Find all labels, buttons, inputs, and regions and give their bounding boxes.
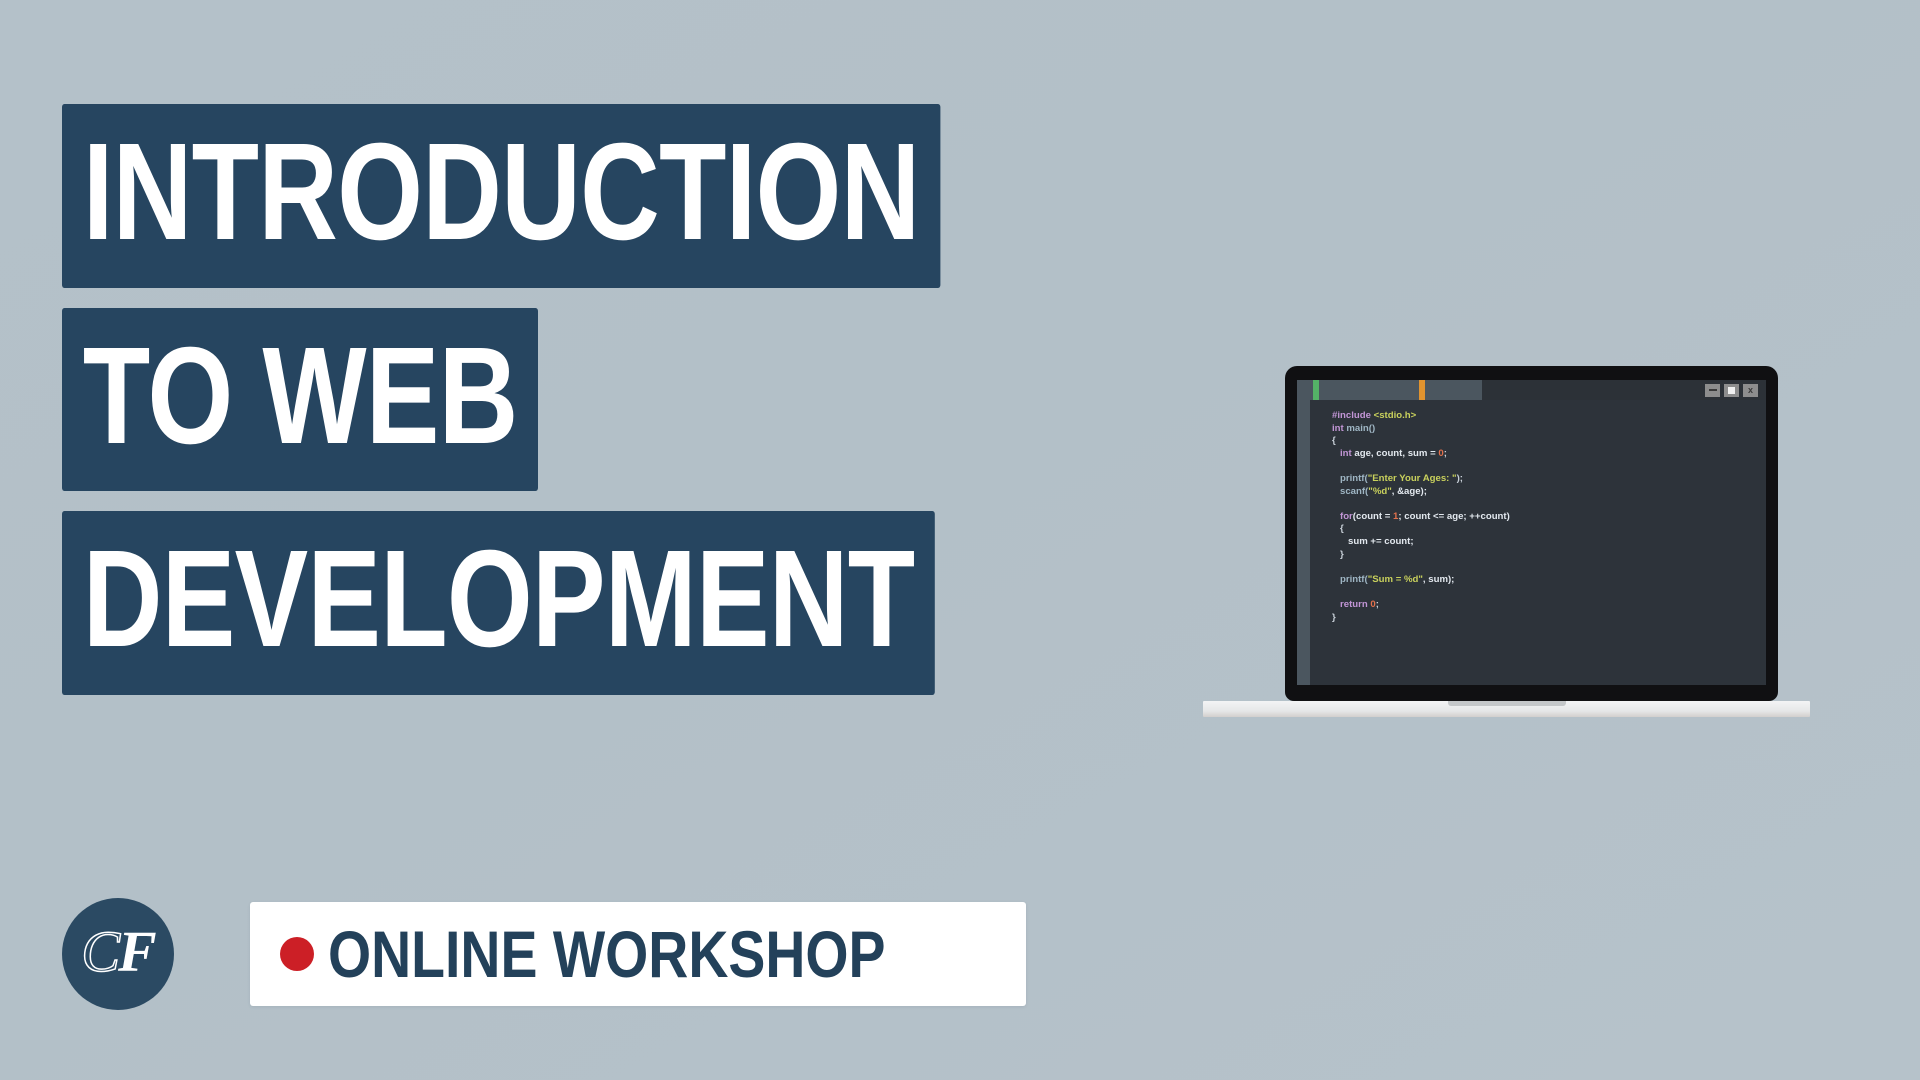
code-token-punct: { (1332, 523, 1344, 534)
close-icon: x (1748, 386, 1753, 395)
code-line: sum += count; (1332, 536, 1766, 549)
code-editor: x #include <stdio.h>int main(){ int age,… (1310, 380, 1766, 685)
code-token-plain: age, count, sum = (1354, 448, 1438, 459)
code-token-plain: sum += count; (1332, 536, 1414, 547)
laptop-base-notch (1448, 701, 1566, 706)
code-token-plain: , sum); (1423, 574, 1454, 585)
laptop-illustration: x #include <stdio.h>int main(){ int age,… (1285, 366, 1778, 701)
code-token-punct: { (1332, 435, 1336, 446)
code-line: } (1332, 549, 1766, 562)
code-token-punct: ; (1444, 448, 1447, 459)
code-line: { (1332, 435, 1766, 448)
close-button[interactable]: x (1743, 384, 1758, 397)
code-line: #include <stdio.h> (1332, 410, 1766, 423)
code-line: } (1332, 612, 1766, 625)
brand-logo: CF (62, 898, 174, 1010)
status-badge: ONLINE WORKSHOP (250, 902, 1026, 1006)
code-token-str: "Enter Your Ages: " (1368, 473, 1457, 484)
status-badge-label: ONLINE WORKSHOP (328, 921, 885, 987)
footer-row: CF ONLINE WORKSHOP (62, 898, 1026, 1010)
code-token-fn: main() (1346, 423, 1375, 434)
maximize-button[interactable] (1724, 384, 1739, 397)
code-line: for(count = 1; count <= age; ++count) (1332, 511, 1766, 524)
slide-canvas: INTRODUCTION TO WEB DEVELOPMENT CF ONLIN… (0, 0, 1920, 1080)
code-line: int main() (1332, 423, 1766, 436)
laptop-bezel: x #include <stdio.h>int main(){ int age,… (1285, 366, 1778, 701)
code-token-str: "%d" (1368, 486, 1392, 497)
code-token-punct: ; (1376, 599, 1379, 610)
maximize-icon (1728, 387, 1735, 394)
code-token-kw: int (1332, 423, 1346, 434)
code-line: scanf("%d", &age); (1332, 486, 1766, 499)
code-block[interactable]: #include <stdio.h>int main(){ int age, c… (1310, 400, 1766, 685)
page-title: INTRODUCTION TO WEB DEVELOPMENT (62, 104, 1160, 695)
code-token-punct: ); (1457, 473, 1463, 484)
code-line (1332, 498, 1766, 511)
code-token-punct: } (1332, 549, 1344, 560)
window-controls: x (1705, 380, 1766, 400)
laptop-base (1203, 701, 1810, 717)
code-token-fn: scanf( (1332, 486, 1368, 497)
code-token-str: "Sum = %d" (1368, 574, 1423, 585)
code-token-str: <stdio.h> (1374, 410, 1417, 421)
title-line-2: TO WEB (62, 308, 538, 492)
editor-titlebar: x (1310, 380, 1766, 400)
code-token-kw: int (1332, 448, 1354, 459)
minimize-icon (1709, 389, 1717, 391)
brand-logo-letter-c: C (81, 919, 118, 984)
code-line: printf("Enter Your Ages: "); (1332, 473, 1766, 486)
code-line: return 0; (1332, 599, 1766, 612)
laptop-screen: x #include <stdio.h>int main(){ int age,… (1297, 380, 1766, 685)
code-token-plain: ; count <= age; ++count) (1398, 511, 1509, 522)
title-line-3: DEVELOPMENT (62, 511, 935, 695)
code-line: int age, count, sum = 0; (1332, 448, 1766, 461)
code-line: printf("Sum = %d", sum); (1332, 574, 1766, 587)
code-line (1332, 586, 1766, 599)
code-token-kw: for (1332, 511, 1353, 522)
code-token-kw: return (1332, 599, 1370, 610)
minimize-button[interactable] (1705, 384, 1720, 397)
brand-logo-letter-f: F (118, 919, 155, 984)
green-tab-marker-icon (1313, 380, 1319, 400)
title-line-1: INTRODUCTION (62, 104, 940, 288)
code-line: { (1332, 523, 1766, 536)
code-token-plain: (count = (1353, 511, 1393, 522)
code-token-fn: printf( (1332, 473, 1368, 484)
code-line (1332, 460, 1766, 473)
titlebar-filler (1482, 380, 1705, 400)
code-token-fn: printf( (1332, 574, 1368, 585)
code-token-plain: , &age); (1392, 486, 1427, 497)
code-token-kw: #include (1332, 410, 1374, 421)
orange-tab-marker-icon (1419, 380, 1425, 400)
code-token-punct: } (1332, 612, 1336, 623)
code-line (1332, 561, 1766, 574)
editor-gutter (1297, 380, 1310, 685)
brand-logo-mark: CF (81, 923, 154, 981)
editor-tab-strip[interactable] (1310, 380, 1482, 400)
live-record-dot-icon (280, 937, 314, 971)
